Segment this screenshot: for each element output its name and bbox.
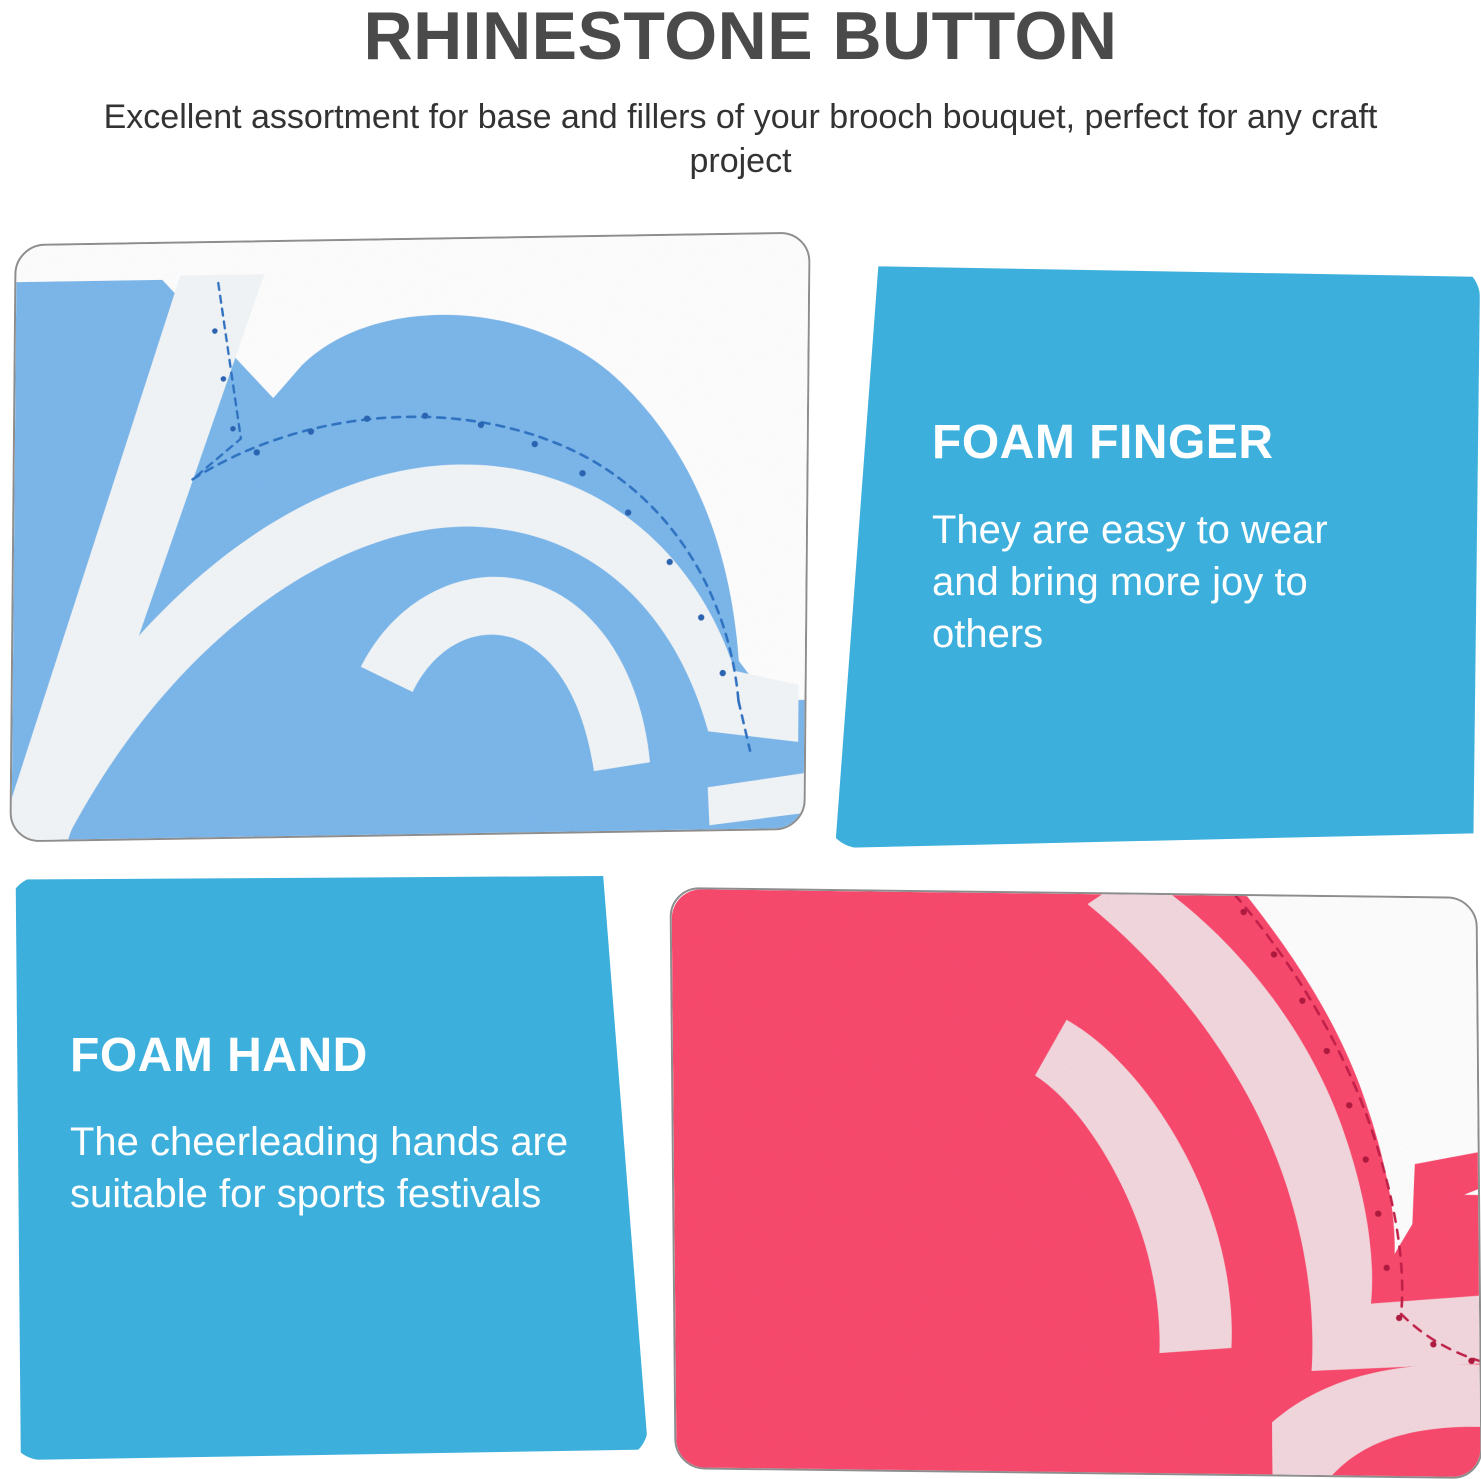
product-photo-blue-foam-hand: [9, 232, 810, 843]
page-subtitle: Excellent assortment for base and filler…: [100, 96, 1381, 183]
info-card-foam-finger: FOAM FINGER They are easy to wear and br…: [826, 264, 1480, 848]
card-title-foam-finger: FOAM FINGER: [932, 415, 1273, 470]
card-body-foam-hand: The cheerleading hands are suitable for …: [70, 1116, 570, 1220]
header: RHINESTONE BUTTON Excellent assortment f…: [0, 0, 1481, 210]
page-title: RHINESTONE BUTTON: [0, 2, 1481, 70]
pink-foam-hand-illustration: [669, 887, 1481, 1479]
blue-foam-hand-illustration: [9, 232, 810, 843]
card-body-foam-finger: They are easy to wear and bring more joy…: [932, 504, 1402, 660]
card-title-foam-hand: FOAM HAND: [70, 1028, 368, 1083]
product-photo-pink-foam-hand: [669, 887, 1481, 1479]
info-card-foam-hand: FOAM HAND The cheerleading hands are sui…: [8, 876, 648, 1460]
